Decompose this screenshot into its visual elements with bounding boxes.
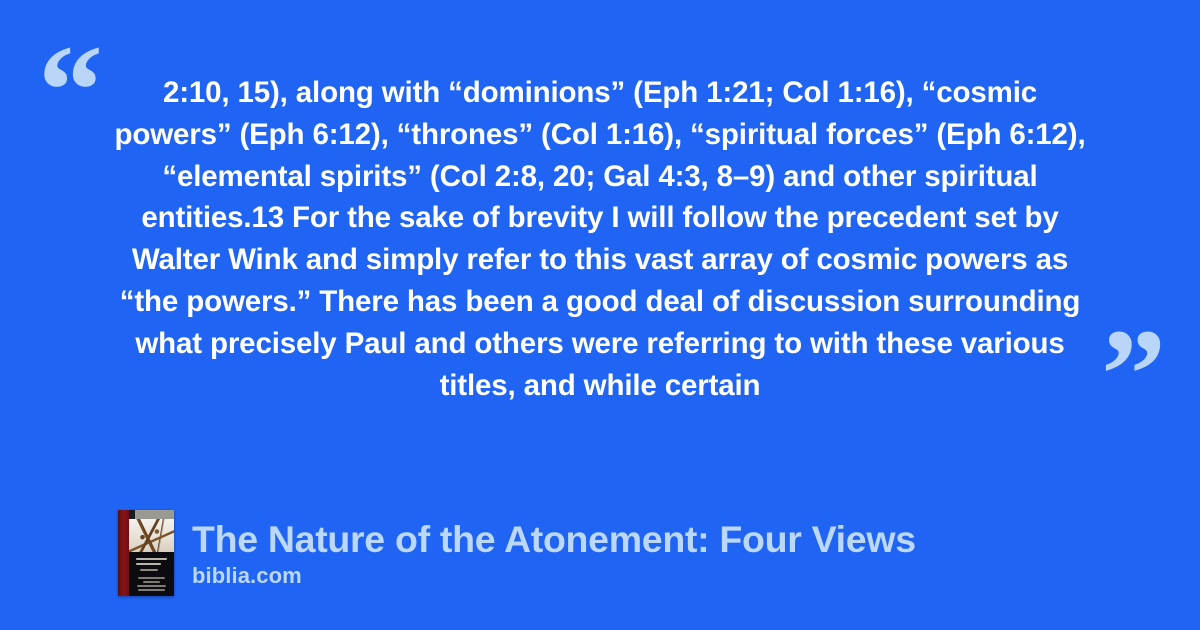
cover-title-line-2 [136, 563, 161, 565]
cover-contributor-line [143, 581, 160, 583]
site-name: biblia.com [192, 563, 916, 589]
book-cover-thumbnail [118, 510, 174, 596]
quote-card: “ 2:10, 15), along with “dominions” (Eph… [0, 0, 1200, 630]
close-quote-icon: ” [1101, 310, 1166, 440]
book-cover-top-band [129, 510, 174, 519]
book-spine [118, 510, 129, 596]
open-quote-icon: “ [38, 26, 103, 156]
crown-of-thorns-photo [129, 519, 174, 552]
cover-contributor-line [138, 577, 165, 579]
cover-contributor-lines [129, 577, 174, 595]
quote-text: 2:10, 15), along with “dominions” (Eph 1… [104, 72, 1096, 406]
source-attribution: The Nature of the Atonement: Four Views … [118, 510, 916, 596]
attribution-text-group: The Nature of the Atonement: Four Views … [192, 517, 916, 589]
cover-contributor-line [137, 585, 166, 587]
cover-title-line-1 [136, 558, 167, 560]
book-title: The Nature of the Atonement: Four Views [192, 517, 916, 561]
cover-subtitle-line [140, 569, 158, 571]
book-cover-lower-panel [129, 552, 174, 596]
cover-contributor-line [138, 589, 165, 591]
